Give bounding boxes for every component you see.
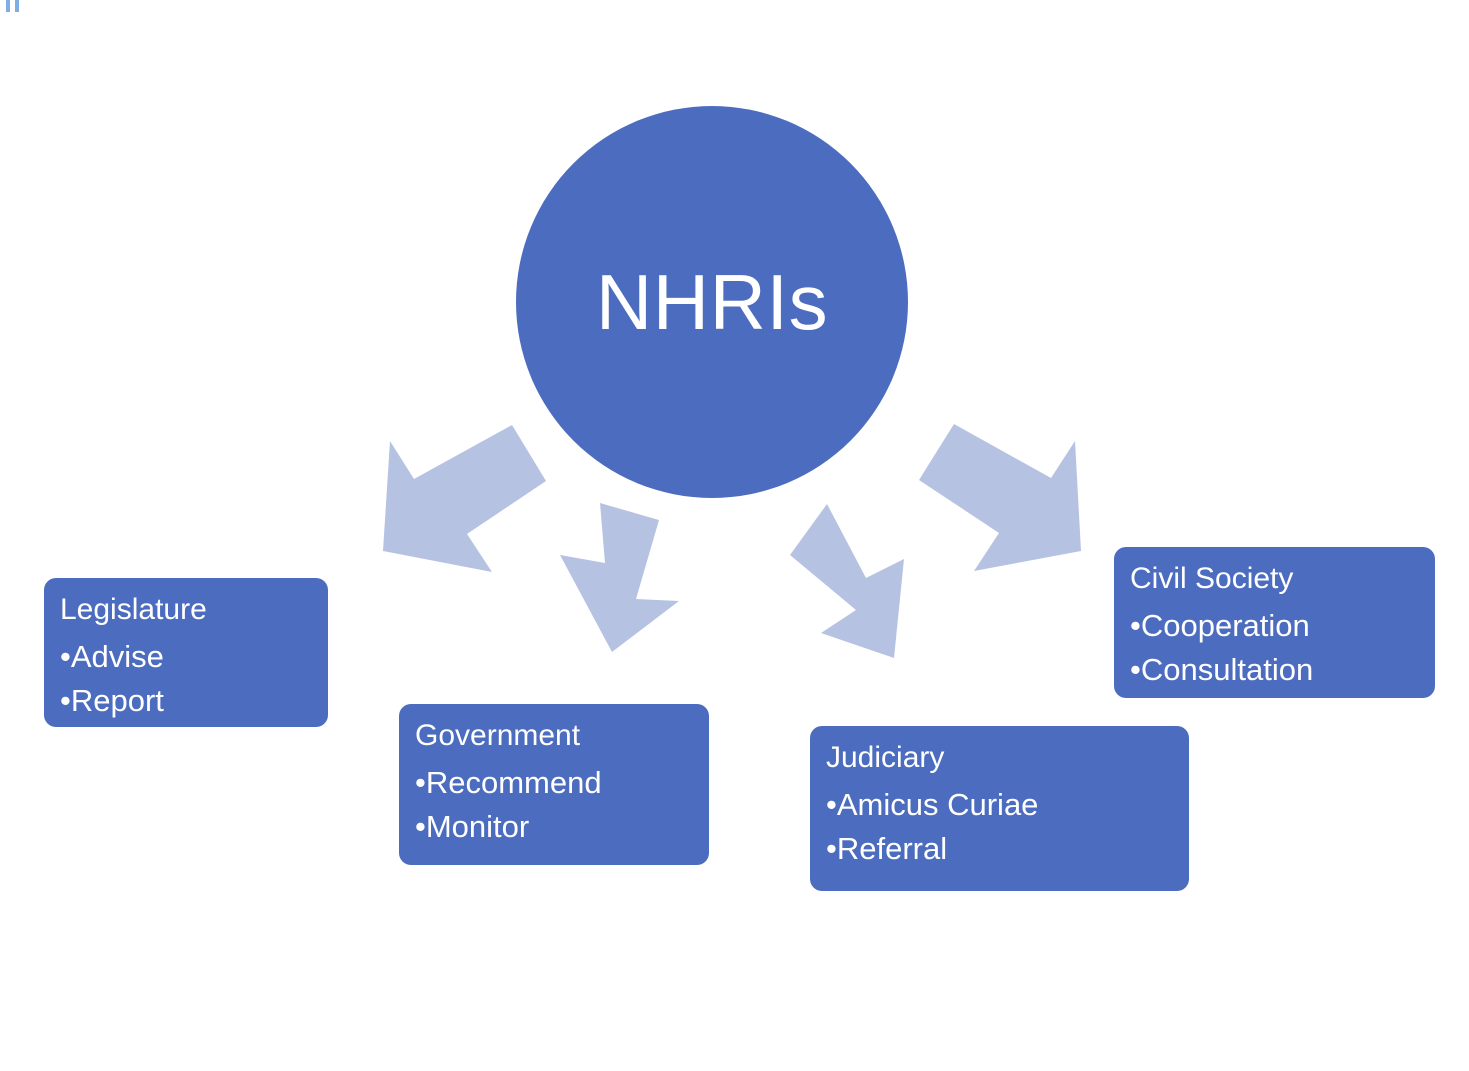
list-item: •Report [60,679,310,723]
hub-circle-nhris[interactable]: NHRIs [516,106,908,498]
list-item-label: Amicus Curiae [837,787,1039,822]
list-item-label: Monitor [426,809,529,844]
bullet-icon: • [1130,652,1141,687]
arrow-to-legislature-icon [383,425,546,572]
arrow-to-civil-society-icon [919,424,1081,571]
node-legislature[interactable]: Legislature •Advise •Report [44,578,328,727]
list-item: •Recommend [415,761,691,805]
bullet-icon: • [826,831,837,866]
bullet-icon: • [60,639,71,674]
list-item: •Consultation [1130,648,1417,692]
list-item-label: Advise [71,639,164,674]
node-legislature-title: Legislature [60,592,310,629]
arrow-to-judiciary-icon [790,504,904,658]
node-civil-society-list: •Cooperation •Consultation [1130,604,1417,692]
list-item-label: Consultation [1141,652,1313,687]
bullet-icon: • [60,683,71,718]
diagram-canvas: NHRIs Legislature •Advise •Report Govern… [0,0,1469,1071]
list-item: •Amicus Curiae [826,783,1171,827]
list-item-label: Recommend [426,765,602,800]
list-item: •Cooperation [1130,604,1417,648]
top-left-artifact [6,0,22,12]
node-legislature-list: •Advise •Report [60,635,310,723]
list-item: •Advise [60,635,310,679]
list-item-label: Cooperation [1141,608,1310,643]
list-item-label: Report [71,683,164,718]
node-government-title: Government [415,718,691,755]
list-item-label: Referral [837,831,947,866]
bullet-icon: • [1130,608,1141,643]
node-judiciary-title: Judiciary [826,740,1171,777]
node-judiciary-list: •Amicus Curiae •Referral [826,783,1171,871]
bullet-icon: • [415,809,426,844]
list-item: •Monitor [415,805,691,849]
hub-label: NHRIs [596,263,828,341]
bullet-icon: • [826,787,837,822]
artifact-bar-left [6,0,10,12]
node-judiciary[interactable]: Judiciary •Amicus Curiae •Referral [810,726,1189,891]
arrow-to-government-icon [560,503,679,652]
node-government[interactable]: Government •Recommend •Monitor [399,704,709,865]
artifact-bar-right [15,0,19,12]
node-government-list: •Recommend •Monitor [415,761,691,849]
node-civil-society[interactable]: Civil Society •Cooperation •Consultation [1114,547,1435,698]
bullet-icon: • [415,765,426,800]
list-item: •Referral [826,827,1171,871]
node-civil-society-title: Civil Society [1130,561,1417,598]
